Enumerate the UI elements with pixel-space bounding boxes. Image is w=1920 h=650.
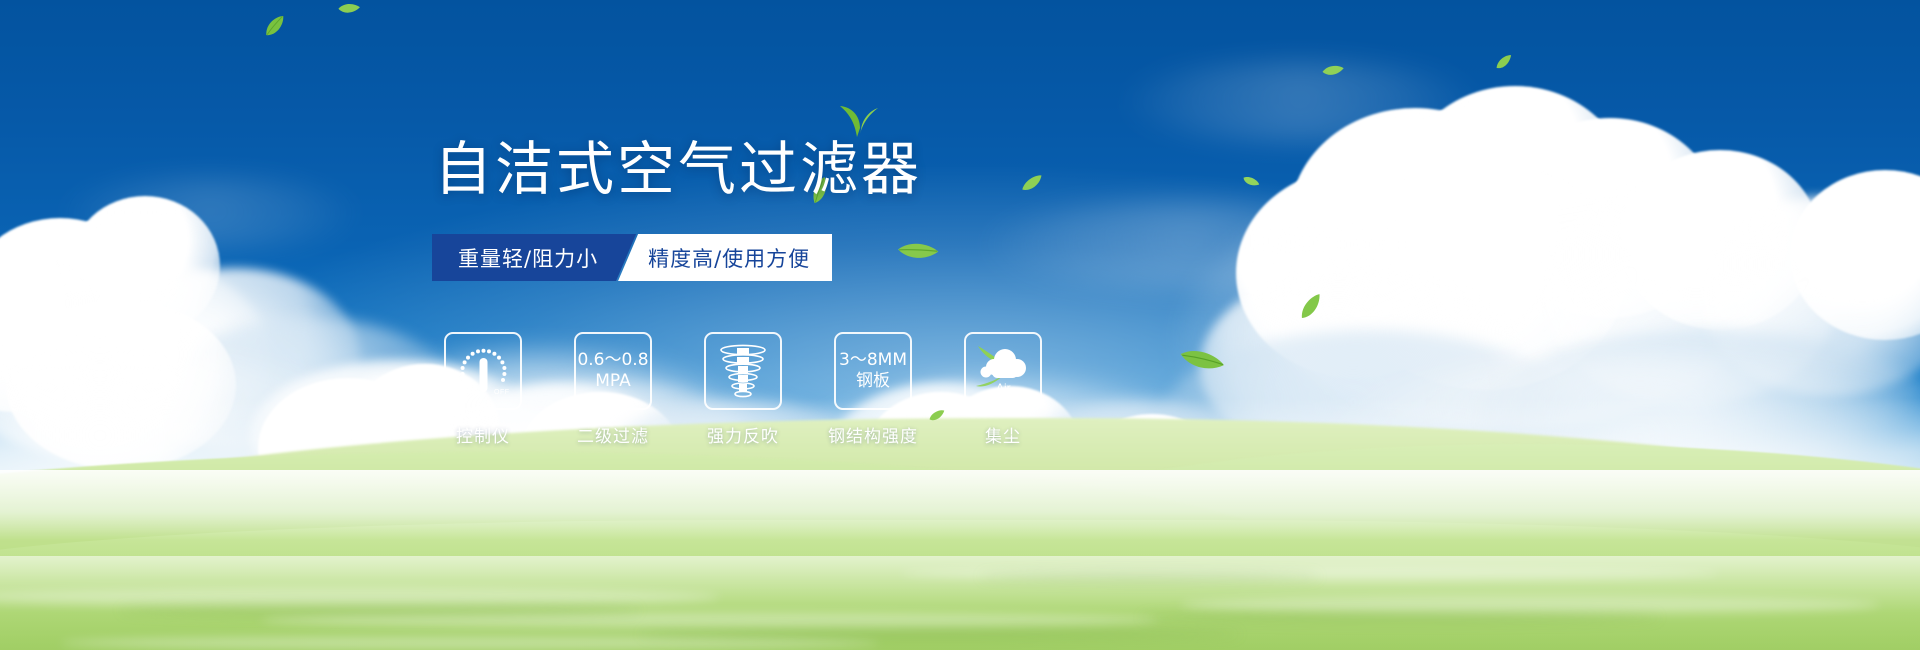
feature-item-controller[interactable]: NO OFF 控制仪 [440,332,526,447]
banner-content: 自洁式空气过滤器 重量轻/阻力小 精度高/使用方便 [0,0,1920,650]
pressure-text-icon: 0.6～0.8MPA [577,350,648,392]
feature-caption-dust-collection: 集尘 [985,422,1021,447]
feature-caption-two-stage-filter: 二级过滤 [577,422,649,447]
product-hero-banner: 自洁式空气过滤器 重量轻/阻力小 精度高/使用方便 [0,0,1920,650]
feature-item-dust-collection[interactable]: Air 集尘 [960,332,1046,447]
svg-text:Air: Air [996,381,1011,395]
steel-plate-text-icon: 3～8MM钢板 [839,350,907,392]
feature-caption-back-blow: 强力反吹 [707,422,779,447]
feature-box-back-blow [704,332,782,410]
feature-item-steel-strength[interactable]: 3～8MM钢板 钢结构强度 [830,332,916,447]
filter-cartridge-icon [716,343,770,399]
feature-tag-group: 重量轻/阻力小 精度高/使用方便 [432,234,832,281]
feature-caption-steel-strength: 钢结构强度 [828,422,918,447]
page-title: 自洁式空气过滤器 [434,122,922,206]
tag-weight-resistance[interactable]: 重量轻/阻力小 [432,234,636,281]
feature-box-steel-plate: 3～8MM钢板 [834,332,912,410]
feature-box-controller: NO OFF [444,332,522,410]
feature-box-pressure: 0.6～0.8MPA [574,332,652,410]
svg-text:OFF: OFF [494,389,510,396]
feature-caption-controller: 控制仪 [456,422,510,447]
tag-precision-convenience[interactable]: 精度高/使用方便 [618,234,832,281]
feature-box-air-cloud: Air [964,332,1042,410]
svg-text:NO: NO [460,382,472,389]
feature-icon-row: NO OFF 控制仪 0.6～0.8MPA 二级过滤 [440,332,1046,447]
feature-item-two-stage-filter[interactable]: 0.6～0.8MPA 二级过滤 [570,332,656,447]
feature-item-back-blow[interactable]: 强力反吹 [700,332,786,447]
cloud-air-icon: Air [972,342,1034,400]
gauge-icon: NO OFF [452,342,514,400]
